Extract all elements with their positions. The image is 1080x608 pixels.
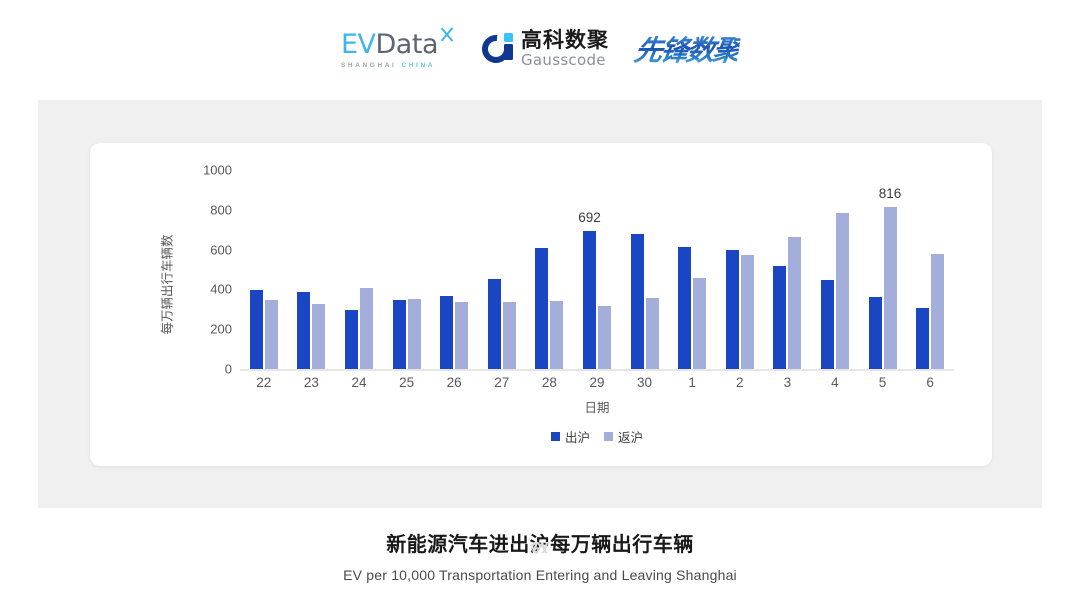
bar-group xyxy=(430,170,478,369)
bar-出沪-4[interactable] xyxy=(821,280,834,369)
bar-group xyxy=(288,170,336,369)
bar-返沪-27[interactable] xyxy=(503,302,516,369)
x-axis-title: 日期 xyxy=(240,397,954,416)
bar-出沪-22[interactable] xyxy=(250,290,263,369)
bar-group xyxy=(716,170,764,369)
bar-出沪-24[interactable] xyxy=(345,310,358,369)
bar-返沪-4[interactable] xyxy=(836,213,849,369)
bar-出沪-6[interactable] xyxy=(916,308,929,369)
bar-返沪-29[interactable] xyxy=(598,306,611,369)
bar-group: 692 xyxy=(573,170,621,369)
bar-value-label: 692 xyxy=(578,210,601,225)
bar-出沪-2[interactable] xyxy=(726,250,739,369)
x-tick-label: 29 xyxy=(573,375,621,390)
bar-出沪-27[interactable] xyxy=(488,279,501,369)
evdata-ev-text: EV xyxy=(341,29,376,60)
bar-出沪-25[interactable] xyxy=(393,300,406,369)
evdata-tagline: SHANGHAI CHINA xyxy=(341,62,435,69)
x-tick-label: 30 xyxy=(621,375,669,390)
bar-返沪-30[interactable] xyxy=(646,298,659,369)
y-tick-label: 1000 xyxy=(186,163,232,178)
legend-swatch-icon xyxy=(551,432,560,441)
bar-group xyxy=(764,170,812,369)
footer: 新能源汽车进出沪每万辆出行车辆 数 EV per 10,000 Transpor… xyxy=(0,528,1080,583)
y-axis-ticks: 10008006004002000 xyxy=(186,143,232,466)
legend-swatch-icon xyxy=(604,432,613,441)
logo-gausscode: 高科数聚 Gausscode xyxy=(482,30,609,68)
x-tick-label: 22 xyxy=(240,375,288,390)
gausscode-c-mark-icon xyxy=(482,33,514,65)
title-ghost-artifact: 数 xyxy=(0,542,1080,553)
gausscode-en-text: Gausscode xyxy=(521,53,609,68)
x-tick-label: 4 xyxy=(811,375,859,390)
bar-返沪-24[interactable] xyxy=(360,288,373,369)
logo-xianfeng: 先锋数聚 xyxy=(635,29,739,69)
bar-group xyxy=(621,170,669,369)
bar-返沪-1[interactable] xyxy=(693,278,706,369)
bar-出沪-5[interactable] xyxy=(869,297,882,369)
bar-chart: 每万辆出行车辆数 10008006004002000 692816 222324… xyxy=(90,143,992,466)
evdata-tagline-china: CHINA xyxy=(401,62,435,69)
x-tick-label: 2 xyxy=(716,375,764,390)
legend-label: 返沪 xyxy=(618,427,643,446)
bar-value-label: 816 xyxy=(879,186,902,201)
logo-bar: EV Data SHANGHAI CHINA 高科数聚 Gausscode 先锋… xyxy=(0,18,1080,80)
bar-出沪-1[interactable] xyxy=(678,247,691,369)
bar-group xyxy=(906,170,954,369)
x-tick-label: 1 xyxy=(668,375,716,390)
y-tick-label: 800 xyxy=(186,202,232,217)
y-tick-label: 600 xyxy=(186,242,232,257)
bar-group xyxy=(383,170,431,369)
bar-出沪-29[interactable]: 692 xyxy=(583,231,596,369)
bar-返沪-23[interactable] xyxy=(312,304,325,369)
x-tick-label: 23 xyxy=(288,375,336,390)
evdata-wordmark: EV Data xyxy=(341,29,456,60)
y-axis-title: 每万辆出行车辆数 xyxy=(157,185,176,385)
bar-返沪-3[interactable] xyxy=(788,237,801,369)
gausscode-cn-text: 高科数聚 xyxy=(521,30,609,51)
plot-area: 692816 xyxy=(240,170,954,369)
bar-group xyxy=(526,170,574,369)
x-tick-label: 5 xyxy=(859,375,907,390)
x-tick-label: 24 xyxy=(335,375,383,390)
x-axis-baseline xyxy=(240,369,954,371)
legend-item-出沪[interactable]: 出沪 xyxy=(551,427,590,446)
bar-出沪-3[interactable] xyxy=(773,266,786,369)
x-tick-label: 27 xyxy=(478,375,526,390)
bar-返沪-25[interactable] xyxy=(408,299,421,369)
x-tick-label: 3 xyxy=(764,375,812,390)
evdata-tagline-shanghai: SHANGHAI xyxy=(341,62,396,69)
y-tick-label: 0 xyxy=(186,362,232,377)
bar-返沪-26[interactable] xyxy=(455,302,468,369)
bar-group xyxy=(668,170,716,369)
bar-group xyxy=(811,170,859,369)
x-tick-label: 26 xyxy=(430,375,478,390)
chart-card: 每万辆出行车辆数 10008006004002000 692816 222324… xyxy=(90,143,992,466)
logo-evdata: EV Data SHANGHAI CHINA xyxy=(341,29,456,69)
chart-legend: 出沪返沪 xyxy=(240,427,954,446)
legend-item-返沪[interactable]: 返沪 xyxy=(604,427,643,446)
legend-label: 出沪 xyxy=(565,427,590,446)
bar-group xyxy=(240,170,288,369)
bar-出沪-23[interactable] xyxy=(297,292,310,369)
bar-返沪-2[interactable] xyxy=(741,255,754,369)
y-tick-label: 400 xyxy=(186,282,232,297)
bar-返沪-22[interactable] xyxy=(265,300,278,369)
y-tick-label: 200 xyxy=(186,322,232,337)
bar-出沪-28[interactable] xyxy=(535,248,548,369)
bar-groups: 692816 xyxy=(240,170,954,369)
page-root: EV Data SHANGHAI CHINA 高科数聚 Gausscode 先锋… xyxy=(0,0,1080,608)
bar-group xyxy=(478,170,526,369)
evdata-data-text: Data xyxy=(376,29,438,60)
x-tick-label: 6 xyxy=(906,375,954,390)
bar-返沪-28[interactable] xyxy=(550,301,563,369)
xianfeng-wordmark: 先锋数聚 xyxy=(632,29,742,69)
bar-出沪-30[interactable] xyxy=(631,234,644,369)
bar-group: 816 xyxy=(859,170,907,369)
bar-返沪-5[interactable]: 816 xyxy=(884,207,897,369)
x-sparkle-icon xyxy=(439,26,456,43)
x-tick-label: 25 xyxy=(383,375,431,390)
page-subtitle: EV per 10,000 Transportation Entering an… xyxy=(0,567,1080,583)
bar-group xyxy=(335,170,383,369)
x-tick-label: 28 xyxy=(526,375,574,390)
x-axis-ticks: 222324252627282930123456 xyxy=(240,375,954,390)
bar-出沪-26[interactable] xyxy=(440,296,453,369)
bar-返沪-6[interactable] xyxy=(931,254,944,369)
